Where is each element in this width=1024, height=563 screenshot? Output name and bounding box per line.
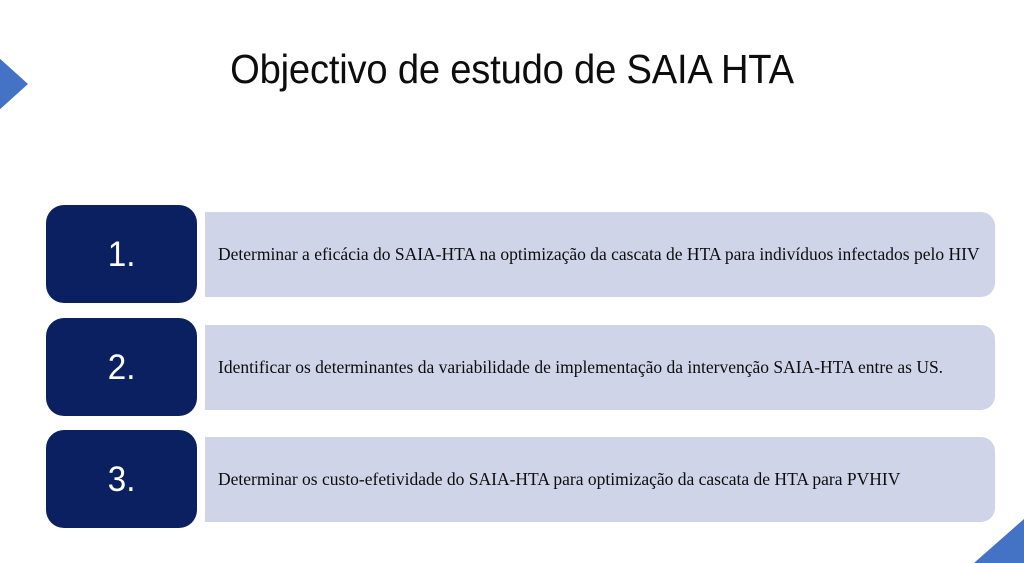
list-item[interactable]: 1. Determinar a eficácia do SAIA-HTA na … xyxy=(46,205,995,303)
objective-text: Determinar os custo-efetividade do SAIA-… xyxy=(218,468,982,491)
slide-canvas: Objectivo de estudo de SAIA HTA 1. Deter… xyxy=(0,0,1024,563)
objective-number-badge: 3. xyxy=(46,430,197,528)
objective-text-panel: Identificar os determinantes da variabil… xyxy=(205,325,995,410)
objective-number-label: 3. xyxy=(108,462,136,497)
list-item[interactable]: 2. Identificar os determinantes da varia… xyxy=(46,318,995,416)
objective-text: Identificar os determinantes da variabil… xyxy=(218,356,982,379)
list-item[interactable]: 3. Determinar os custo-efetividade do SA… xyxy=(46,430,995,528)
objective-number-label: 2. xyxy=(108,350,136,385)
objective-number-label: 1. xyxy=(108,237,136,272)
objective-text-panel: Determinar a eficácia do SAIA-HTA na opt… xyxy=(205,212,995,297)
bottom-right-triangle-icon xyxy=(974,519,1024,563)
objectives-list: 1. Determinar a eficácia do SAIA-HTA na … xyxy=(0,0,1024,563)
objective-text-panel: Determinar os custo-efetividade do SAIA-… xyxy=(205,437,995,522)
objective-number-badge: 1. xyxy=(46,205,197,303)
objective-number-badge: 2. xyxy=(46,318,197,416)
objective-text: Determinar a eficácia do SAIA-HTA na opt… xyxy=(218,243,982,266)
